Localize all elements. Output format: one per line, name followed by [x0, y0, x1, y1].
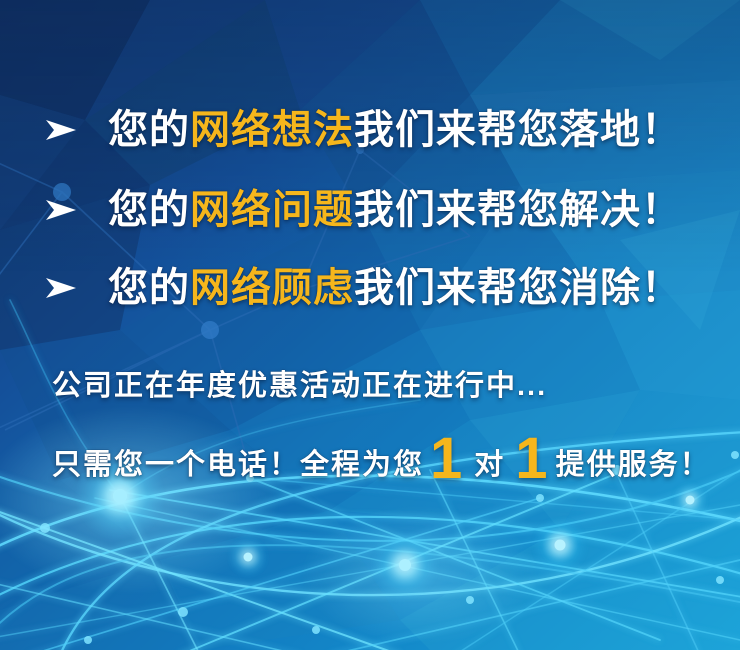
bullet-line-2: 您的网络问题我们来帮您解决！: [44, 184, 682, 236]
bullet-1-tail: 我们来帮您落地！: [354, 108, 682, 152]
one-to-one-second-digit: 1: [509, 436, 555, 482]
bullet-1-highlight: 网络想法: [190, 108, 354, 152]
bullet-3-lead: 您的: [108, 266, 190, 310]
one-to-one-first-digit: 1: [424, 436, 470, 482]
bullet-line-2-text: 您的网络问题我们来帮您解决！: [108, 185, 682, 235]
arrow-right-icon: [44, 275, 78, 301]
bullet-line-1: 您的网络想法我们来帮您落地！: [44, 104, 682, 156]
bullet-1-lead: 您的: [108, 108, 190, 152]
promo-banner: 您的网络想法我们来帮您落地！ 您的网络问题我们来帮您解决！ 您的网络顾虑我们来帮…: [0, 0, 740, 650]
bullet-line-3-text: 您的网络顾虑我们来帮您消除！: [108, 263, 682, 313]
bullet-2-highlight: 网络问题: [190, 188, 354, 232]
bullet-3-tail: 我们来帮您消除！: [354, 266, 682, 310]
arrow-right-icon: [44, 197, 78, 223]
promo-text: 公司正在年度优惠活动正在进行中...: [52, 362, 547, 404]
bullet-line-1-text: 您的网络想法我们来帮您落地！: [108, 105, 682, 155]
cta-lead: 只需您一个电话！全程为您: [52, 441, 424, 483]
one-to-one-mid-word: 对: [470, 441, 509, 483]
bullet-2-lead: 您的: [108, 188, 190, 232]
bullet-3-highlight: 网络顾虑: [190, 266, 354, 310]
arrow-right-icon: [44, 117, 78, 143]
bullet-2-tail: 我们来帮您解决！: [354, 188, 682, 232]
bullet-line-3: 您的网络顾虑我们来帮您消除！: [44, 262, 682, 314]
call-to-action-text: 只需您一个电话！全程为您 1 对 1 提供服务！: [52, 432, 711, 483]
cta-tail: 提供服务！: [556, 441, 711, 483]
banner-content: 您的网络想法我们来帮您落地！ 您的网络问题我们来帮您解决！ 您的网络顾虑我们来帮…: [0, 0, 740, 650]
